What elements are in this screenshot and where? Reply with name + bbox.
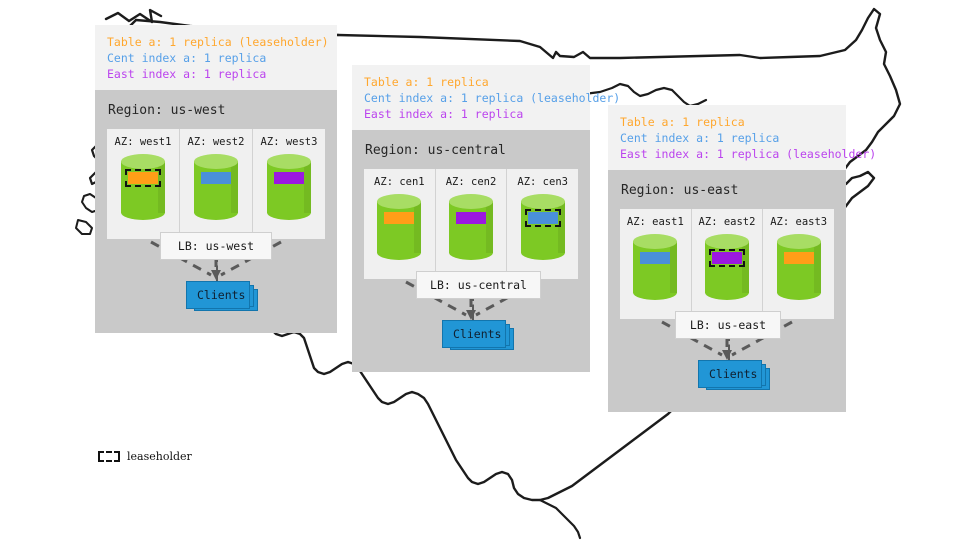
cylinder-shading: [304, 161, 311, 213]
replica-bar-table-a-leaseholder: [128, 172, 158, 184]
az-label-west3: AZ: west3: [253, 136, 325, 148]
summary-line-cent-index: Cent index a: 1 replica: [620, 130, 834, 146]
replica-bar-cent-index-a-leaseholder: [528, 212, 558, 224]
replica-bar-table-a: [384, 212, 414, 224]
cylinder-shading: [486, 201, 493, 253]
az-label-east2: AZ: east2: [692, 216, 763, 228]
replica-bar-cent-index-a: [640, 252, 670, 264]
cylinder-shading: [231, 161, 238, 213]
az-cell-cen3[interactable]: AZ: cen3: [506, 169, 578, 279]
az-cell-east1[interactable]: AZ: east1: [620, 209, 691, 319]
summary-line-cent-index: Cent index a: 1 replica (leaseholder): [364, 90, 578, 106]
node-cylinder-cen3[interactable]: [521, 194, 565, 260]
cylinder-shading: [814, 241, 821, 293]
load-balancer-us-central[interactable]: LB: us-central: [416, 271, 541, 299]
summary-line-table: Table a: 1 replica: [620, 114, 834, 130]
replica-bar-cent-index-a: [201, 172, 231, 184]
dashed-rectangle-icon: [98, 451, 120, 462]
az-cell-west1[interactable]: AZ: west1: [107, 129, 179, 239]
cylinder-shading: [742, 241, 749, 293]
lb-label-us-east: LB: us-east: [690, 318, 766, 332]
clients-label-us-central: Clients: [453, 327, 501, 341]
summary-line-east-index: East index a: 1 replica: [364, 106, 578, 122]
clients-label-us-east: Clients: [709, 367, 757, 381]
cylinder-top: [705, 234, 749, 249]
node-cylinder-east3[interactable]: [777, 234, 821, 300]
az-cell-west2[interactable]: AZ: west2: [179, 129, 252, 239]
clients-stack-us-central[interactable]: Clients: [442, 320, 514, 350]
cylinder-shading: [414, 201, 421, 253]
clients-stack-us-east[interactable]: Clients: [698, 360, 770, 390]
clients-box-us-west[interactable]: Clients: [186, 281, 250, 309]
node-cylinder-east1[interactable]: [633, 234, 677, 300]
az-cell-west3[interactable]: AZ: west3: [252, 129, 325, 239]
az-label-east3: AZ: east3: [763, 216, 834, 228]
lb-label-us-central: LB: us-central: [430, 278, 527, 292]
az-label-west1: AZ: west1: [107, 136, 179, 148]
clients-stack-us-west[interactable]: Clients: [186, 281, 258, 311]
region-replica-summary-us-central: Table a: 1 replica Cent index a: 1 repli…: [352, 65, 590, 130]
node-cylinder-cen2[interactable]: [449, 194, 493, 260]
region-replica-summary-us-west: Table a: 1 replica (leaseholder) Cent in…: [95, 25, 337, 90]
cylinder-shading: [670, 241, 677, 293]
az-cell-east3[interactable]: AZ: east3: [762, 209, 834, 319]
region-title-us-central: Region: us-central: [352, 130, 590, 169]
node-cylinder-west1[interactable]: [121, 154, 165, 220]
cylinder-top: [521, 194, 565, 209]
az-label-west2: AZ: west2: [180, 136, 252, 148]
az-container-us-central: AZ: cen1 AZ: cen2: [364, 169, 578, 279]
az-container-us-west: AZ: west1 AZ: west2: [107, 129, 325, 239]
replica-bar-table-a: [784, 252, 814, 264]
node-cylinder-east2[interactable]: [705, 234, 749, 300]
legend: leaseholder: [98, 450, 192, 463]
az-cell-east2[interactable]: AZ: east2: [691, 209, 763, 319]
cylinder-top: [449, 194, 493, 209]
legend-label-leaseholder: leaseholder: [127, 450, 192, 463]
node-cylinder-west2[interactable]: [194, 154, 238, 220]
cylinder-top: [194, 154, 238, 169]
region-title-us-east: Region: us-east: [608, 170, 846, 209]
load-balancer-us-east[interactable]: LB: us-east: [675, 311, 781, 339]
region-replica-summary-us-east: Table a: 1 replica Cent index a: 1 repli…: [608, 105, 846, 170]
cylinder-shading: [558, 201, 565, 253]
az-container-us-east: AZ: east1 AZ: east2: [620, 209, 834, 319]
az-label-cen3: AZ: cen3: [507, 176, 578, 188]
replica-bar-east-index-a: [274, 172, 304, 184]
clients-box-us-east[interactable]: Clients: [698, 360, 762, 388]
summary-line-table: Table a: 1 replica (leaseholder): [107, 34, 325, 50]
replica-bar-east-index-a: [456, 212, 486, 224]
az-cell-cen1[interactable]: AZ: cen1: [364, 169, 435, 279]
az-cell-cen2[interactable]: AZ: cen2: [435, 169, 507, 279]
cylinder-top: [777, 234, 821, 249]
load-balancer-us-west[interactable]: LB: us-west: [160, 232, 272, 260]
region-title-us-west: Region: us-west: [95, 90, 337, 129]
summary-line-cent-index: Cent index a: 1 replica: [107, 50, 325, 66]
az-label-cen1: AZ: cen1: [364, 176, 435, 188]
replica-bar-east-index-a-leaseholder: [712, 252, 742, 264]
clients-label-us-west: Clients: [197, 288, 245, 302]
clients-box-us-central[interactable]: Clients: [442, 320, 506, 348]
summary-line-east-index: East index a: 1 replica (leaseholder): [620, 146, 834, 162]
cylinder-top: [121, 154, 165, 169]
summary-line-east-index: East index a: 1 replica: [107, 66, 325, 82]
cylinder-top: [267, 154, 311, 169]
diagram-canvas: Table a: 1 replica (leaseholder) Cent in…: [0, 0, 960, 540]
az-label-cen2: AZ: cen2: [436, 176, 507, 188]
node-cylinder-cen1[interactable]: [377, 194, 421, 260]
lb-label-us-west: LB: us-west: [178, 239, 254, 253]
az-label-east1: AZ: east1: [620, 216, 691, 228]
cylinder-shading: [158, 161, 165, 213]
node-cylinder-west3[interactable]: [267, 154, 311, 220]
summary-line-table: Table a: 1 replica: [364, 74, 578, 90]
